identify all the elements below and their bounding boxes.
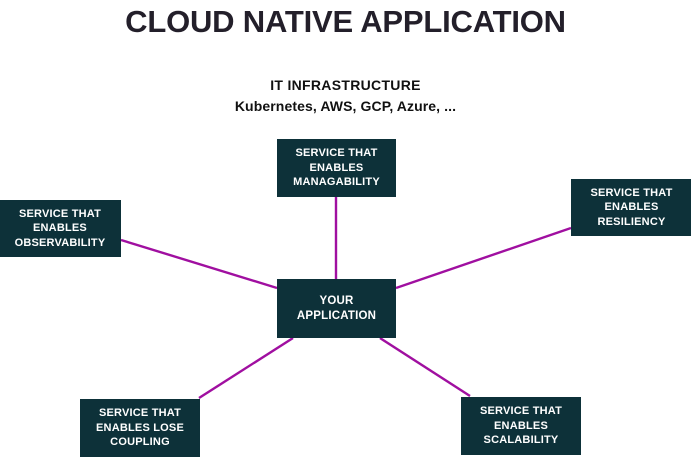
node-resiliency[interactable]: SERVICE THAT ENABLES RESILIENCY bbox=[571, 179, 691, 236]
node-scalability-label: SERVICE THAT ENABLES SCALABILITY bbox=[480, 404, 562, 448]
node-lose-coupling[interactable]: SERVICE THAT ENABLES LOSE COUPLING bbox=[80, 399, 200, 457]
connector-center-to-observability bbox=[121, 240, 277, 288]
connector-center-to-scalability bbox=[380, 338, 470, 396]
connector-center-to-lose-coupling bbox=[199, 338, 293, 398]
node-lose-coupling-label: SERVICE THAT ENABLES LOSE COUPLING bbox=[96, 406, 184, 450]
node-managability[interactable]: SERVICE THAT ENABLES MANAGABILITY bbox=[277, 139, 396, 197]
infrastructure-caption: IT INFRASTRUCTURE Kubernetes, AWS, GCP, … bbox=[0, 76, 691, 116]
infrastructure-platforms: Kubernetes, AWS, GCP, Azure, ... bbox=[0, 96, 691, 116]
node-observability-label: SERVICE THAT ENABLES OBSERVABILITY bbox=[15, 207, 106, 251]
diagram-canvas: CLOUD NATIVE APPLICATION IT INFRASTRUCTU… bbox=[0, 0, 691, 458]
node-resiliency-label: SERVICE THAT ENABLES RESILIENCY bbox=[590, 186, 672, 230]
node-your-application-label: YOUR APPLICATION bbox=[297, 294, 376, 324]
node-your-application[interactable]: YOUR APPLICATION bbox=[277, 279, 396, 338]
infrastructure-heading: IT INFRASTRUCTURE bbox=[0, 76, 691, 94]
page-title: CLOUD NATIVE APPLICATION bbox=[0, 4, 691, 40]
node-scalability[interactable]: SERVICE THAT ENABLES SCALABILITY bbox=[461, 397, 581, 455]
connector-center-to-resiliency bbox=[396, 228, 571, 288]
node-managability-label: SERVICE THAT ENABLES MANAGABILITY bbox=[293, 146, 380, 190]
node-observability[interactable]: SERVICE THAT ENABLES OBSERVABILITY bbox=[0, 200, 121, 257]
